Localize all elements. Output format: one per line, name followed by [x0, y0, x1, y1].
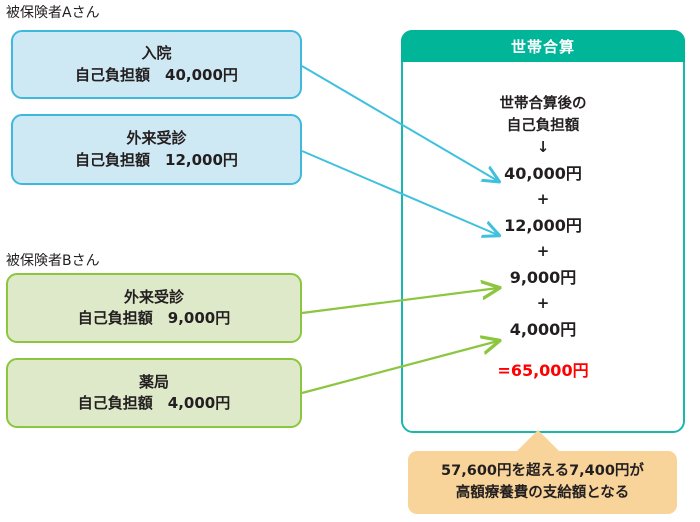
- plus-operator-1: +: [401, 192, 685, 207]
- card-amount: 自己負担額 4,000円: [78, 394, 230, 413]
- summary-value-1: 40,000円: [401, 166, 685, 182]
- callout-note: 57,600円を超える7,400円が 高額療養費の支給額となる: [408, 451, 677, 514]
- summary-lead: 世帯合算後の 自己負担額: [401, 94, 685, 138]
- card-amount: 自己負担額 12,000円: [75, 151, 238, 170]
- card-title: 入院: [141, 44, 171, 63]
- plus-operator-2: +: [401, 244, 685, 259]
- card-amount: 自己負担額 9,000円: [78, 309, 230, 328]
- summary-value-2: 12,000円: [401, 218, 685, 234]
- card-title: 外来受診: [126, 129, 186, 148]
- card-amount: 自己負担額 40,000円: [75, 66, 238, 85]
- card-title: 外来受診: [124, 288, 184, 307]
- card-pharmacy[interactable]: 薬局 自己負担額 4,000円: [6, 358, 302, 428]
- panel-header: 世帯合算: [401, 30, 685, 62]
- group-label-person-a: 被保険者Aさん: [6, 2, 100, 22]
- plus-operator-3: +: [401, 296, 685, 311]
- summary-lead-line1: 世帯合算後の: [401, 94, 685, 116]
- summary-value-3: 9,000円: [401, 270, 685, 286]
- summary-value-4: 4,000円: [401, 322, 685, 338]
- group-label-person-b: 被保険者Bさん: [6, 250, 100, 270]
- card-outpatient-b[interactable]: 外来受診 自己負担額 9,000円: [6, 273, 302, 343]
- diagram-canvas: 被保険者Aさん 被保険者Bさん 入院 自己負担額 40,000円 外来受診 自己…: [0, 0, 700, 522]
- panel-header-label: 世帯合算: [511, 36, 575, 57]
- callout-line2: 高額療養費の支給額となる: [456, 483, 630, 505]
- aggregation-summary: 世帯合算後の 自己負担額 ↓ 40,000円 + 12,000円 + 9,000…: [401, 62, 685, 379]
- card-hospitalization[interactable]: 入院 自己負担額 40,000円: [11, 30, 302, 99]
- card-outpatient-a[interactable]: 外来受診 自己負担額 12,000円: [11, 114, 302, 185]
- down-arrow-icon: ↓: [401, 139, 685, 156]
- card-title: 薬局: [139, 373, 169, 392]
- callout-line1: 57,600円を超える7,400円が: [441, 461, 644, 483]
- callout-pointer-icon: [516, 430, 560, 452]
- summary-lead-line2: 自己負担額: [401, 116, 685, 138]
- summary-total: =65,000円: [401, 363, 685, 379]
